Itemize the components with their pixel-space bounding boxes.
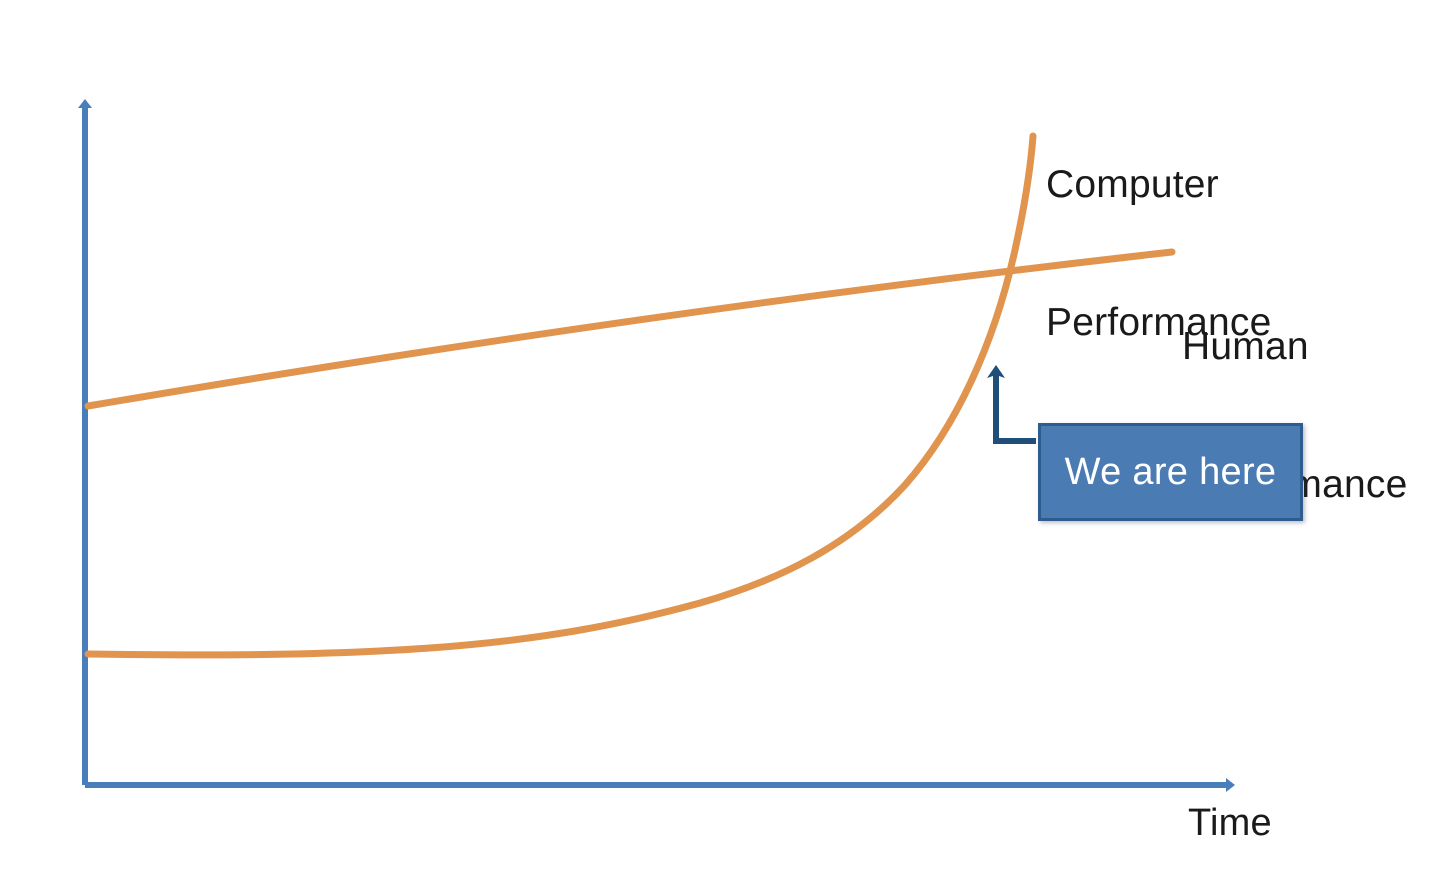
computer-label-line1: Computer bbox=[1046, 162, 1271, 208]
x-axis-label: Time bbox=[1188, 801, 1272, 846]
we-are-here-text: We are here bbox=[1065, 451, 1277, 494]
we-are-here-callout: We are here bbox=[1038, 423, 1303, 521]
human-label-line1: Human bbox=[1182, 324, 1407, 370]
computer-performance-curve bbox=[88, 136, 1033, 655]
chart-canvas: Computer Performance Human Performance T… bbox=[0, 0, 1448, 889]
callout-arrow bbox=[996, 372, 1036, 441]
series-label-human-performance: Human Performance bbox=[1182, 232, 1407, 600]
